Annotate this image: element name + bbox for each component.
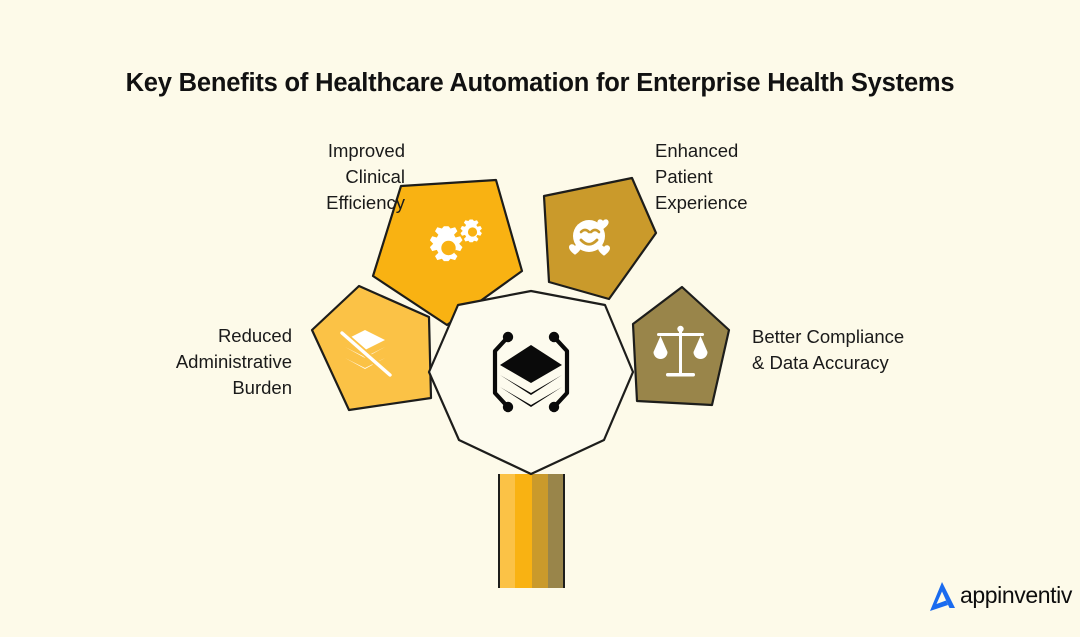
appinventiv-logo[interactable]: appinventiv [925,578,1072,612]
pentagon-shape [312,286,431,410]
stem-stripe-3 [532,474,548,588]
center-octagon[interactable] [429,291,633,474]
appinventiv-mark-icon [925,578,959,612]
benefits-diagram [0,0,1080,637]
benefit-label-better-compliance-data-accuracy: Better Compliance & Data Accuracy [752,324,1002,376]
stem-stripe-4 [548,474,564,588]
stem-stripe-2 [515,474,532,588]
pentagon-better-compliance-data-accuracy[interactable] [633,287,729,405]
benefit-label-enhanced-patient-experience: Enhanced Patient Experience [655,138,885,216]
benefit-label-reduced-administrative-burden: Reduced Administrative Burden [85,323,292,401]
pentagon-reduced-administrative-burden[interactable] [312,286,431,410]
stem-stripe-1 [499,474,515,588]
stem-group [499,474,564,588]
appinventiv-logo-text: appinventiv [960,582,1072,609]
pentagon-enhanced-patient-experience[interactable] [544,178,656,299]
benefit-label-improved-clinical-efficiency: Improved Clinical Efficiency [190,138,405,216]
